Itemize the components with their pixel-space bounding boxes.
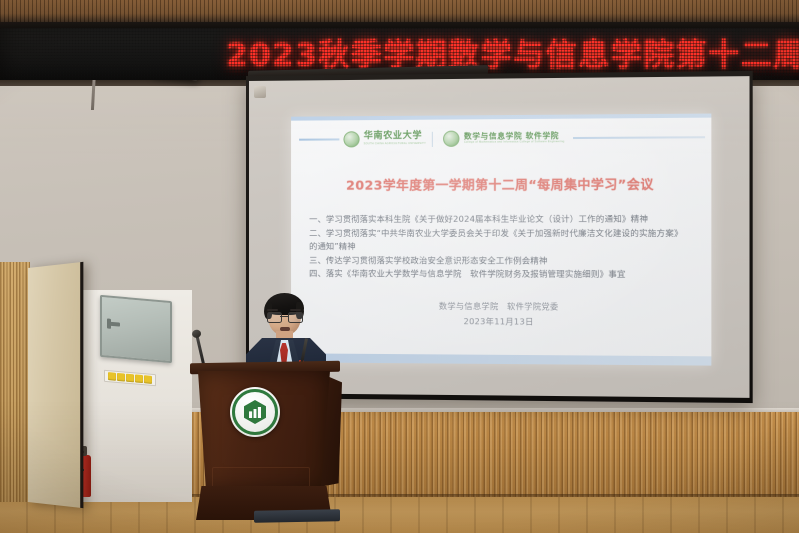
- agenda-item: 三、传达学习贯彻落实学校政治安全意识形态安全工作例会精神: [309, 254, 696, 268]
- glasses-bridge: [280, 316, 288, 317]
- wood-floor: [0, 497, 799, 533]
- agenda-item: 二、学习贯彻落实“中共华南农业大学委员会关于印发《关于加强新时代廉洁文化建设的实…: [309, 226, 696, 240]
- slide-header: 华南农业大学 SOUTH CHINA AGRICULTURAL UNIVERSI…: [291, 124, 711, 153]
- college-name-cn: 数学与信息学院 软件学院: [464, 132, 565, 140]
- podium-laptop: [254, 509, 340, 523]
- slide-agenda-list: 一、学习贯彻落实本科生院《关于做好2024届本科生毕业论文（设计）工作的通知》精…: [309, 212, 696, 282]
- entry-door-panel[interactable]: [28, 262, 83, 508]
- slide-title: 2023学年度第一学期第十二周“每周集中学习”会议: [291, 173, 711, 194]
- ceiling-slat-band: [0, 0, 799, 22]
- podium-front-panel: [198, 371, 330, 489]
- agenda-item: 四、落实《华南农业大学数学与信息学院 软件学院财务及报销管理实施细则》事宜: [309, 267, 696, 282]
- presenter-eyebrow-left: [267, 309, 278, 311]
- slide-footer-date: 2023年11月13日: [291, 313, 711, 330]
- wall-control-cabinet[interactable]: [100, 295, 172, 363]
- light-switch-key[interactable]: [117, 373, 125, 382]
- slide-footer: 数学与信息学院 软件学院党委 2023年11月13日: [291, 298, 711, 330]
- light-switch-key[interactable]: [144, 375, 152, 384]
- school-emblem-icon: [230, 387, 280, 437]
- lecture-hall-photo: 2023秋季学期数学与信息学院第十二周集中学习大 华南农业大学 SOUTH CH…: [0, 0, 799, 533]
- glasses-lens-right: [288, 312, 303, 323]
- university-name-cn: 华南农业大学: [364, 132, 426, 141]
- header-rule-right: [573, 136, 705, 139]
- agenda-item-continuation: 的通知”精神: [309, 240, 696, 254]
- presentation-slide: 华南农业大学 SOUTH CHINA AGRICULTURAL UNIVERSI…: [291, 114, 711, 366]
- light-switch-key[interactable]: [108, 372, 116, 381]
- door-jamb: [0, 262, 30, 502]
- university-logo-text: 华南农业大学 SOUTH CHINA AGRICULTURAL UNIVERSI…: [364, 132, 426, 146]
- glasses-lens-left: [267, 312, 282, 323]
- screen-mount-bracket: [254, 86, 266, 98]
- college-logo-text: 数学与信息学院 软件学院 College of Mathematics and …: [464, 132, 565, 144]
- emblem-core: [244, 400, 266, 424]
- lectern-podium: [196, 362, 334, 522]
- college-logo-icon: [443, 131, 459, 147]
- emblem-ring: [232, 389, 278, 435]
- agenda-item: 一、学习贯彻落实本科生院《关于做好2024届本科生毕业论文（设计）工作的通知》精…: [309, 212, 696, 226]
- slide-bottom-accent-bar: [291, 353, 711, 365]
- cabinet-handle-icon: [110, 322, 120, 327]
- college-name-en: College of Mathematics and Informatics C…: [464, 141, 565, 144]
- slide-top-accent-bar: [291, 114, 711, 121]
- led-banner-text: 2023秋季学期数学与信息学院第十二周集中学习大: [226, 30, 799, 75]
- university-name-en: SOUTH CHINA AGRICULTURAL UNIVERSITY: [364, 143, 426, 146]
- logo-divider: [432, 131, 433, 146]
- presenter-eyebrow-right: [290, 309, 301, 311]
- university-logo-icon: [343, 131, 359, 147]
- light-switch-key[interactable]: [126, 374, 134, 383]
- light-switch-key[interactable]: [135, 374, 143, 383]
- glasses-icon: [267, 312, 302, 321]
- header-rule-left: [299, 138, 339, 140]
